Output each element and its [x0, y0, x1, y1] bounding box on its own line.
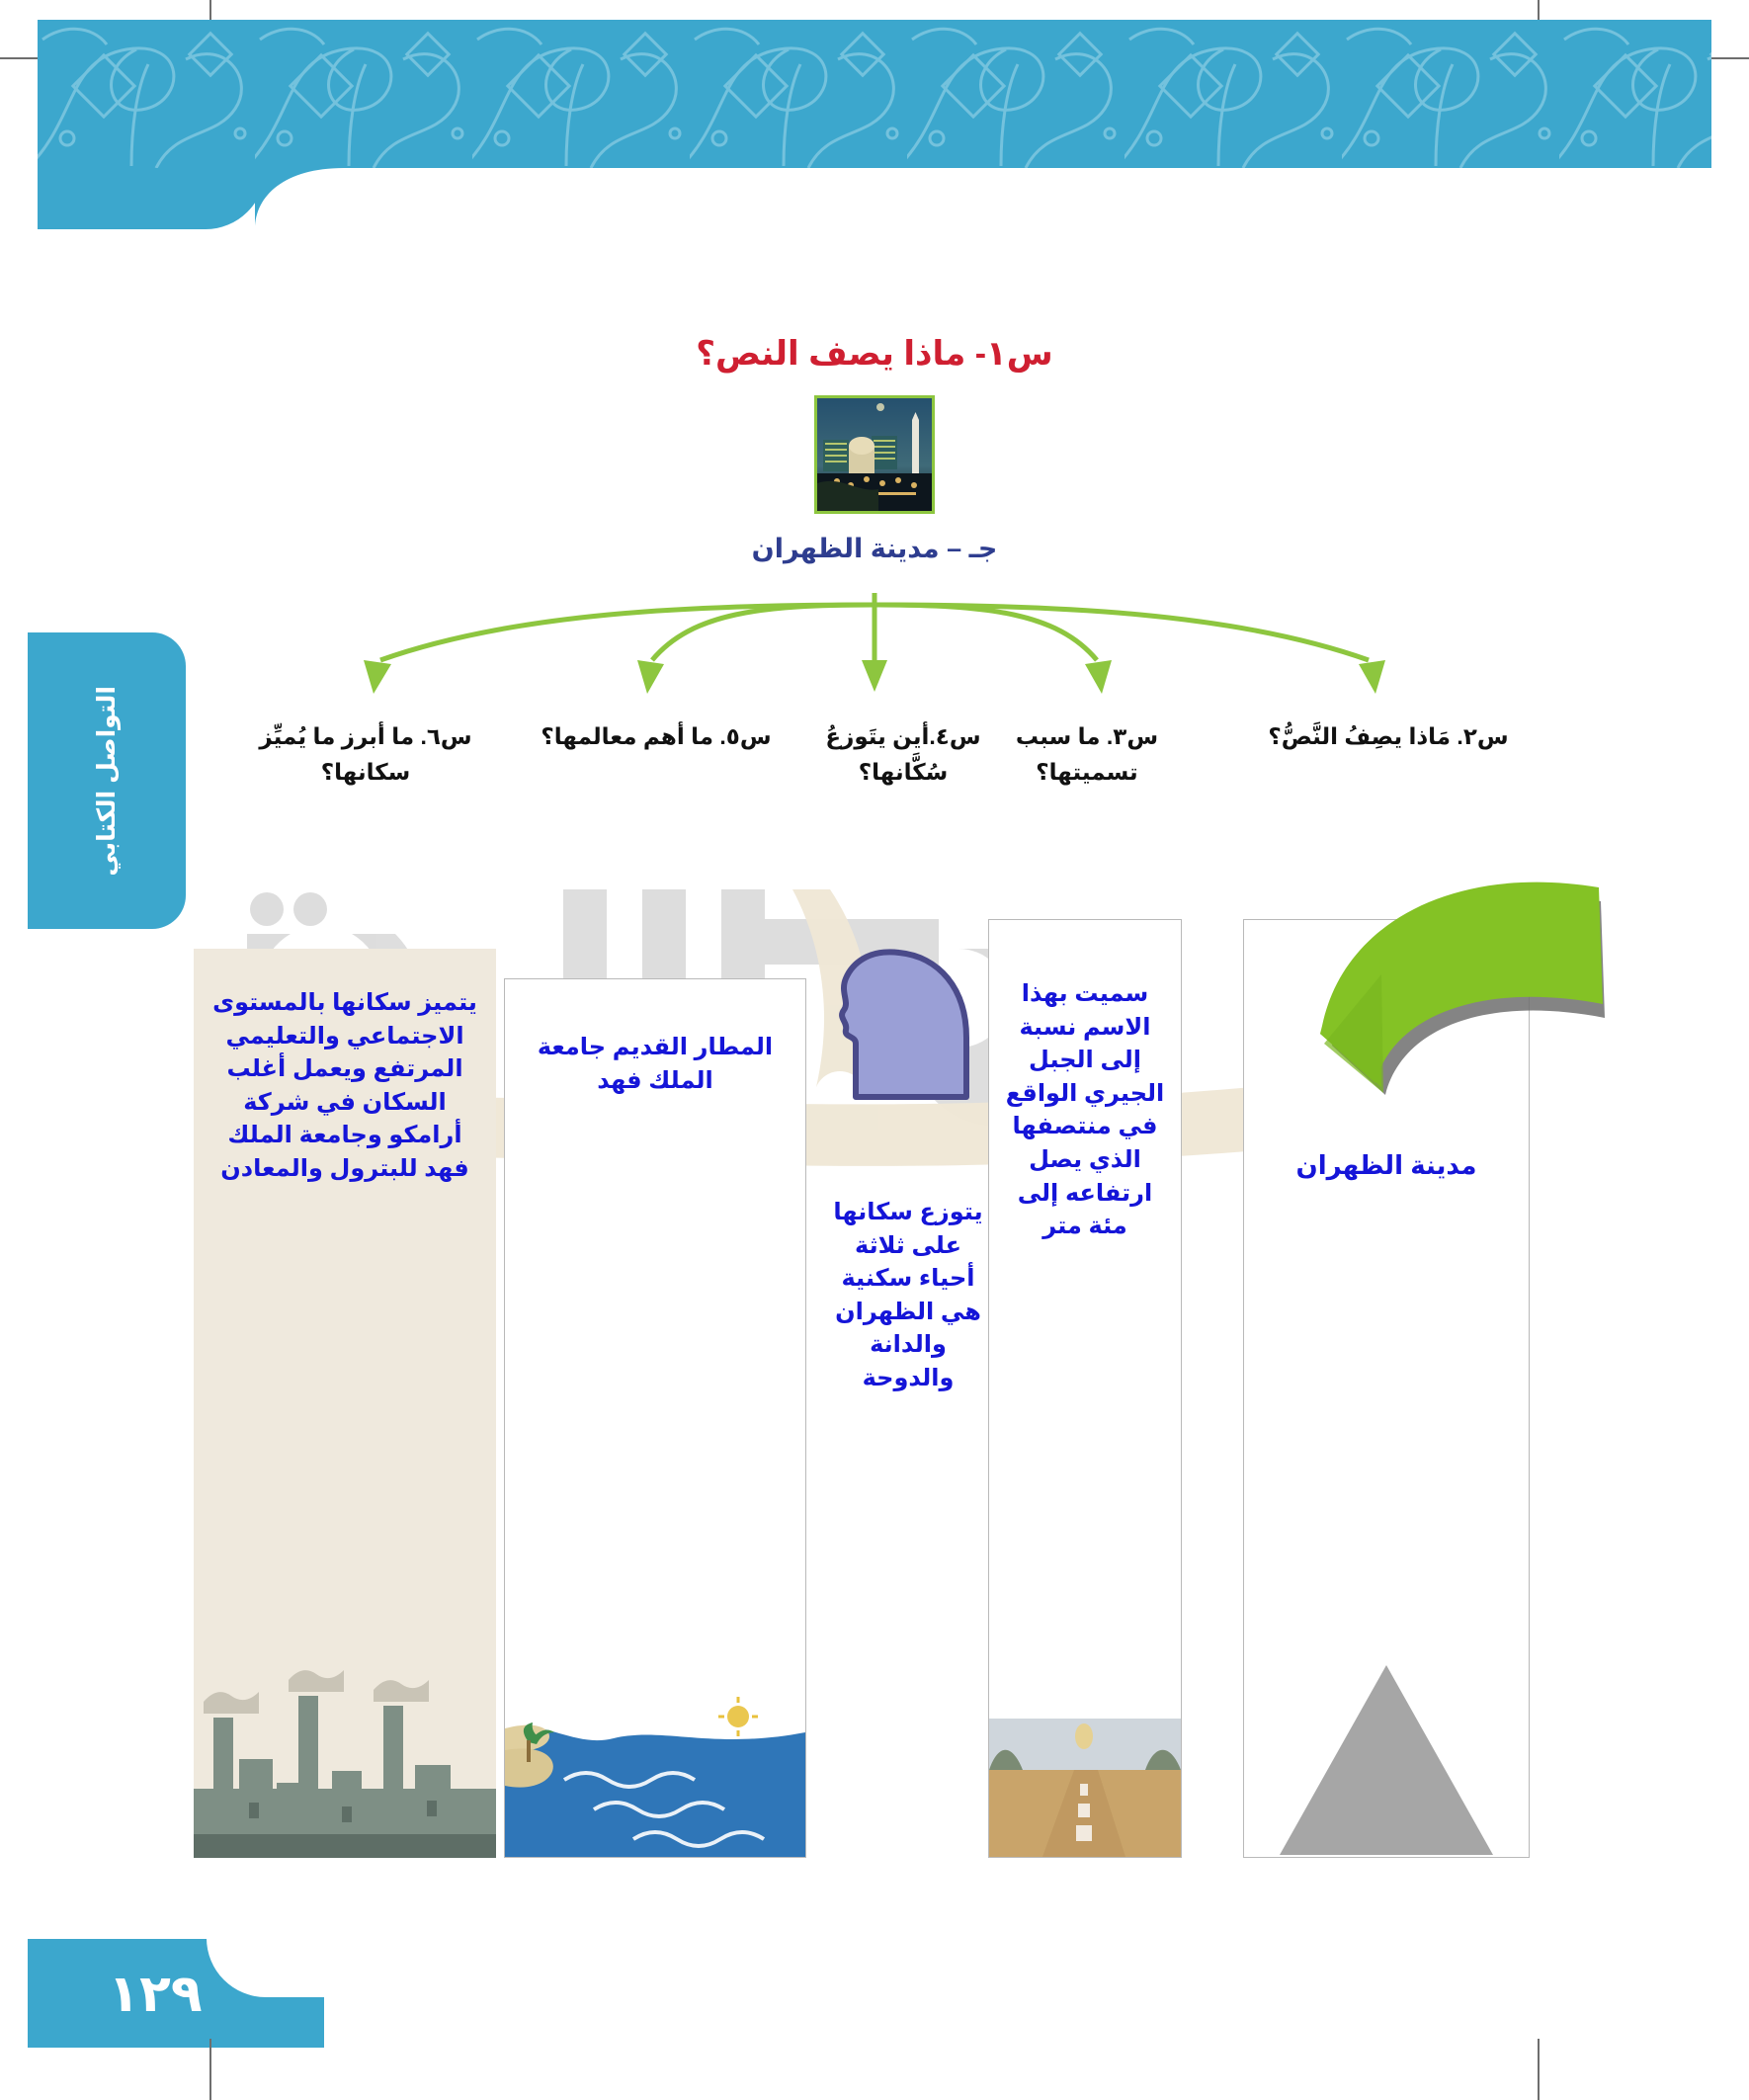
page-title: س١- ماذا يصف النص؟: [0, 334, 1749, 374]
desert-road-illustration: [989, 1719, 1181, 1857]
question-text-q4: س٤.أين يتَوزعُ سُكَّانها؟: [825, 723, 980, 785]
mountain-illustration: [1244, 1639, 1529, 1857]
question-label-q2: س٢. مَاذا يصِفُ النَّصُّ؟: [1245, 719, 1532, 755]
question-label-q5: س٥. ما أهم معالمها؟: [508, 719, 804, 755]
question-label-q6: س٦. ما أبرز ما يُميِّز سكانها؟: [237, 719, 494, 790]
sidebar-unit-tab[interactable]: التواصل الكتابي: [28, 632, 186, 929]
cityscape-night-image: [817, 398, 932, 511]
answer-column-q5: المطار القديم جامعة الملك فهد: [504, 978, 806, 1858]
header-decorative-band: [38, 20, 1711, 168]
crop-mark-bottom-right: [1538, 2039, 1540, 2100]
answer-text-q6: يتميز سكانها بالمستوى الاجتماعي والتعليم…: [194, 986, 496, 1186]
beach-sea-illustration: [505, 1689, 805, 1857]
answer-column-q3: سميت بهذا الاسم نسبة إلى الجبل الجيري ال…: [988, 919, 1182, 1858]
sidebar-unit-tab-label: التواصل الكتابي: [92, 686, 122, 877]
question-text-q5: س٥. ما أهم معالمها؟: [541, 723, 771, 749]
header-curve-fill: [255, 168, 344, 239]
answer-column-q6: يتميز سكانها بالمستوى الاجتماعي والتعليم…: [194, 949, 496, 1858]
page-number: ١٢٩: [71, 1965, 239, 2024]
question-text-q2: س٢. مَاذا يصِفُ النَّصُّ؟: [1268, 723, 1508, 749]
answer-column-q4: يتوزع سكانها على ثلاثة أحياء سكنية هي ال…: [814, 919, 1002, 1858]
crop-mark-bottom-left: [209, 2039, 211, 2100]
answer-text-q5: المطار القديم جامعة الملك فهد: [505, 1031, 805, 1097]
question-label-q3: س٣. ما سبب تسميتها؟: [988, 719, 1186, 790]
answer-text-q3: سميت بهذا الاسم نسبة إلى الجبل الجيري ال…: [989, 977, 1181, 1243]
head-profile-icon: [814, 919, 1002, 1107]
header-band-tail: [38, 168, 265, 229]
answer-text-q2: مدينة الظهران: [1244, 1147, 1529, 1183]
sun-icon: [727, 1706, 749, 1727]
photo-caption: جـ – مدينة الظهران: [0, 534, 1749, 564]
factory-illustration: [194, 1640, 496, 1858]
arabesque-pattern-icon: [38, 20, 1711, 168]
question-text-q3: س٣. ما سبب تسميتها؟: [1016, 723, 1158, 785]
answer-column-q2: مدينة الظهران: [1243, 919, 1530, 1858]
question-text-q6: س٦. ما أبرز ما يُميِّز سكانها؟: [259, 723, 471, 785]
question-label-q4: س٤.أين يتَوزعُ سُكَّانها؟: [814, 719, 992, 790]
dhahran-night-photo: [814, 395, 935, 514]
answer-text-q4: يتوزع سكانها على ثلاثة أحياء سكنية هي ال…: [814, 1196, 1002, 1395]
